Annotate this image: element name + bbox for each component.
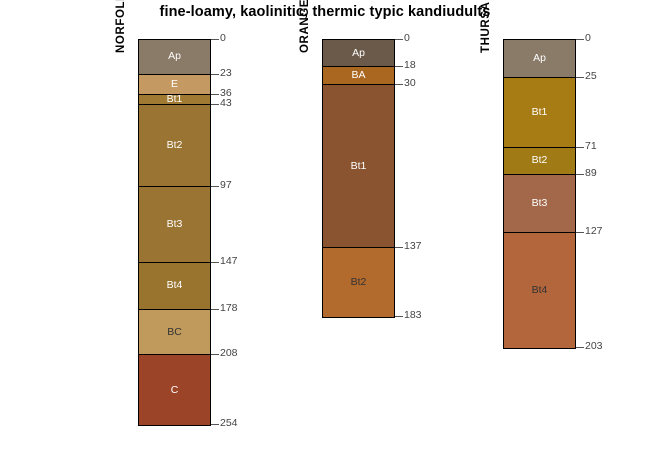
depth-tick-label: 208 <box>220 347 238 359</box>
depth-tick-mark <box>211 186 219 187</box>
depth-tick-mark <box>576 347 584 348</box>
depth-tick-mark <box>395 247 403 248</box>
depth-tick-mark <box>576 77 584 78</box>
depth-tick-label: 178 <box>220 302 238 314</box>
depth-tick-mark <box>211 354 219 355</box>
horizon-label: Bt2 <box>532 155 548 166</box>
profile-name-label: ORANGEBURG <box>299 0 311 53</box>
depth-tick-mark <box>211 74 219 75</box>
horizon-band-bt3[interactable]: Bt3 <box>504 175 575 233</box>
horizon-band-bt1[interactable]: Bt1 <box>504 78 575 148</box>
horizon-label: BC <box>167 327 182 338</box>
depth-tick-mark <box>576 147 584 148</box>
horizon-label: Bt1 <box>532 107 548 118</box>
horizon-band-bt1[interactable]: Bt1 <box>139 95 210 106</box>
horizon-band-bc[interactable]: BC <box>139 310 210 355</box>
horizon-label: Bt2 <box>167 140 183 151</box>
depth-tick-mark <box>211 309 219 310</box>
depth-tick-label: 203 <box>585 340 603 352</box>
horizon-label: BA <box>351 70 365 81</box>
depth-tick-label: 25 <box>585 70 597 82</box>
depth-tick-mark <box>395 39 403 40</box>
depth-tick-label: 127 <box>585 225 603 237</box>
horizon-label: Ap <box>168 51 181 62</box>
depth-tick-mark <box>576 174 584 175</box>
depth-tick-mark <box>211 39 219 40</box>
depth-tick-label: 18 <box>404 59 416 71</box>
depth-tick-mark <box>576 232 584 233</box>
depth-tick-label: 254 <box>220 417 238 429</box>
soil-profile-chart: fine-loamy, kaolinitic, thermic typic ka… <box>0 0 650 450</box>
depth-tick-mark <box>211 94 219 95</box>
horizon-band-c[interactable]: C <box>139 355 210 425</box>
horizon-band-bt4[interactable]: Bt4 <box>504 233 575 348</box>
horizon-band-bt4[interactable]: Bt4 <box>139 263 210 310</box>
horizon-label: C <box>171 385 179 396</box>
horizon-label: Bt3 <box>167 219 183 230</box>
depth-tick-label: 43 <box>220 97 232 109</box>
horizon-band-ap[interactable]: Ap <box>323 40 394 67</box>
depth-tick-label: 23 <box>220 67 232 79</box>
profile-column: ApEBt1Bt2Bt3Bt4BCC <box>138 39 211 426</box>
horizon-band-e[interactable]: E <box>139 75 210 95</box>
depth-tick-mark <box>395 316 403 317</box>
depth-tick-label: 30 <box>404 77 416 89</box>
depth-tick-mark <box>576 39 584 40</box>
horizon-band-ap[interactable]: Ap <box>504 40 575 78</box>
horizon-label: Bt2 <box>351 277 367 288</box>
depth-tick-label: 0 <box>585 32 591 44</box>
horizon-band-bt2[interactable]: Bt2 <box>504 148 575 175</box>
horizon-label: Ap <box>533 53 546 64</box>
depth-tick-label: 0 <box>220 32 226 44</box>
profile-column: ApBt1Bt2Bt3Bt4 <box>503 39 576 349</box>
depth-tick-label: 147 <box>220 255 238 267</box>
horizon-band-bt3[interactable]: Bt3 <box>139 187 210 263</box>
horizon-label: Ap <box>352 48 365 59</box>
depth-tick-mark <box>211 424 219 425</box>
horizon-band-bt2[interactable]: Bt2 <box>139 105 210 187</box>
depth-tick-mark <box>395 84 403 85</box>
horizon-label: Bt4 <box>167 280 183 291</box>
depth-tick-mark <box>211 262 219 263</box>
horizon-band-ba[interactable]: BA <box>323 67 394 85</box>
depth-tick-label: 183 <box>404 309 422 321</box>
horizon-label: Bt3 <box>532 198 548 209</box>
horizon-label: Bt1 <box>351 161 367 172</box>
depth-tick-label: 71 <box>585 140 597 152</box>
profile-column: ApBABt1Bt2 <box>322 39 395 318</box>
depth-tick-mark <box>211 104 219 105</box>
horizon-band-ap[interactable]: Ap <box>139 40 210 75</box>
profile-name-label: THURSA <box>480 1 492 53</box>
depth-tick-mark <box>395 66 403 67</box>
horizon-label: E <box>171 79 178 90</box>
page-title: fine-loamy, kaolinitic, thermic typic ka… <box>0 4 650 20</box>
horizon-label: Bt1 <box>167 95 183 105</box>
depth-tick-label: 0 <box>404 32 410 44</box>
depth-tick-label: 137 <box>404 240 422 252</box>
horizon-band-bt1[interactable]: Bt1 <box>323 85 394 247</box>
horizon-band-bt2[interactable]: Bt2 <box>323 248 394 318</box>
depth-tick-label: 97 <box>220 179 232 191</box>
depth-tick-label: 89 <box>585 167 597 179</box>
horizon-label: Bt4 <box>532 285 548 296</box>
profile-name-label: NORFOLK <box>115 0 127 53</box>
